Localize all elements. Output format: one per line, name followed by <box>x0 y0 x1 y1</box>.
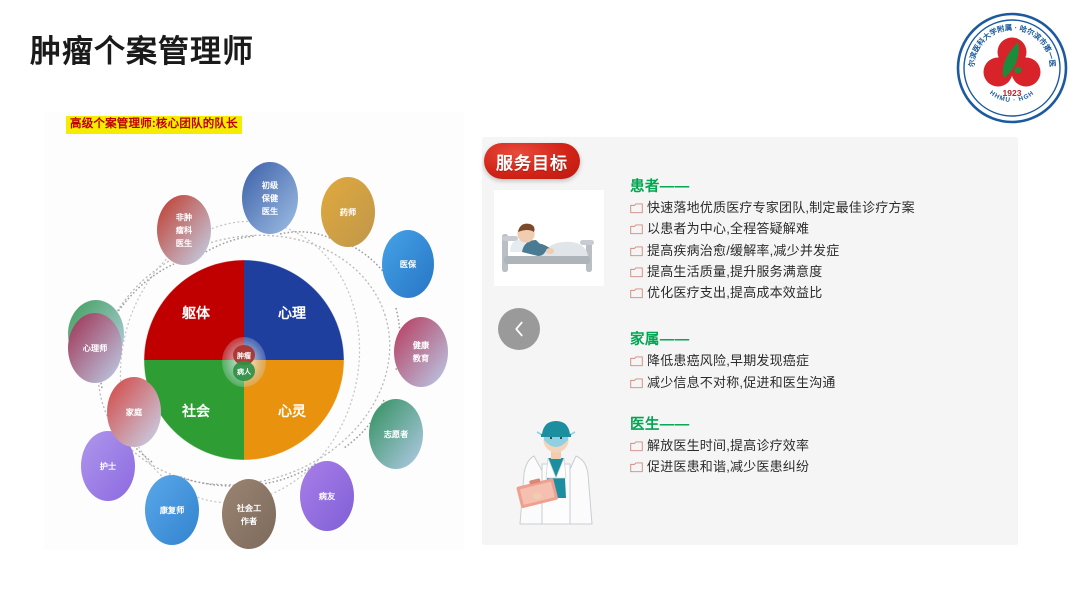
quadrant-label-body: 躯体 <box>181 305 211 321</box>
goal-bullet-row: 提高生活质量,提升服务满意度 <box>630 264 1000 280</box>
goal-bullet-row: 促进医患和谐,减少医患纠纷 <box>630 459 1000 475</box>
node-label-line: 作者 <box>241 516 257 526</box>
node-label-line: 医生 <box>176 238 192 248</box>
goal-bullet-row: 提高疾病治愈/缓解率,减少并发症 <box>630 243 1000 259</box>
node-label-line: 瘤科 <box>176 225 193 235</box>
node-label-line: 心理师 <box>83 343 108 353</box>
node-label-line: 健康 <box>413 340 430 350</box>
goal-bullet-text: 提高疾病治愈/缓解率,减少并发症 <box>647 243 839 259</box>
folder-icon <box>630 462 643 473</box>
goal-section-doctor: 医生—— 解放医生时间,提高诊疗效率 促进医患和谐,减少医患纠纷 <box>630 413 1000 476</box>
diagram-node-healtheducation: 健康 教育 <box>394 317 448 387</box>
leaf-dot-icon <box>1015 67 1022 74</box>
folder-icon <box>630 378 643 389</box>
goal-bullet-text: 提高生活质量,提升服务满意度 <box>647 264 822 280</box>
quadrant-label-spirit: 心灵 <box>278 403 307 419</box>
goal-bullet-text: 促进医患和谐,减少医患纠纷 <box>647 459 809 475</box>
diagram-node-insurance: 医保 <box>382 230 434 298</box>
goal-section-patient: 患者—— 快速落地优质医疗专家团队,制定最佳诊疗方案 以患者为中心,全程答疑解难… <box>630 175 1000 301</box>
node-label-line: 医生 <box>262 206 278 216</box>
core-label-line2: 病人 <box>237 367 252 376</box>
goal-bullet-text: 解放医生时间,提高诊疗效率 <box>647 438 809 454</box>
diagram-node-socialworker: 社会工 作者 <box>222 479 276 549</box>
hospital-logo: 哈尔滨医科大学附属 · 哈尔滨市第一医院 HHMU · HGH 1923 <box>956 12 1068 124</box>
goal-bullet-text: 以患者为中心,全程答疑解难 <box>647 221 809 237</box>
node-label-line: 社会工 <box>236 503 262 513</box>
node-label-line: 保健 <box>261 193 279 203</box>
folder-icon <box>630 356 643 367</box>
folder-icon <box>630 267 643 278</box>
goal-bullet-row: 以患者为中心,全程答疑解难 <box>630 221 1000 237</box>
service-goal-sections: 患者—— 快速落地优质医疗专家团队,制定最佳诊疗方案 以患者为中心,全程答疑解难… <box>630 175 1000 475</box>
diagram-node-volunteer: 志愿者 <box>369 399 423 469</box>
goal-bullet-row: 减少信息不对称,促进和医生沟通 <box>630 375 1000 391</box>
goal-bullet-text: 减少信息不对称,促进和医生沟通 <box>647 375 836 391</box>
diagram-node-family: 家庭 <box>107 377 161 447</box>
patient-in-bed-illustration <box>494 190 604 286</box>
diagram-node-psychologist: 心理师 <box>68 313 122 383</box>
goal-bullet-text: 降低患癌风险,早期发现癌症 <box>647 353 809 369</box>
folder-icon <box>630 203 643 214</box>
node-label-line: 康复师 <box>160 505 185 515</box>
node-label-line: 非肿 <box>176 212 192 222</box>
node-label-line: 护士 <box>100 461 116 471</box>
node-label-line: 家庭 <box>126 407 143 417</box>
logo-year: 1923 <box>1003 88 1022 98</box>
hospital-emblem-icon: 哈尔滨医科大学附属 · 哈尔滨市第一医院 HHMU · HGH 1923 <box>956 12 1068 124</box>
goal-bullet-text: 快速落地优质医疗专家团队,制定最佳诊疗方案 <box>647 200 915 216</box>
diagram-node-primarycare: 初级 保健 医生 <box>242 162 298 234</box>
goal-bullet-row: 优化医疗支出,提高成本效益比 <box>630 285 1000 301</box>
goal-bullet-row: 降低患癌风险,早期发现癌症 <box>630 353 1000 369</box>
care-team-diagram: 高级个案管理师:核心团队的队长 <box>44 112 464 550</box>
node-label-line: 教育 <box>412 353 429 363</box>
service-goal-badge: 服务目标 <box>484 143 580 179</box>
node-label-line: 初级 <box>262 180 279 190</box>
folder-icon <box>630 441 643 452</box>
previous-slide-button[interactable] <box>498 308 540 350</box>
goal-bullet-row: 快速落地优质医疗专家团队,制定最佳诊疗方案 <box>630 200 1000 216</box>
goal-section-heading: 患者—— <box>630 175 1000 196</box>
doctor-with-clipboard-illustration <box>504 412 610 530</box>
node-label-line: 志愿者 <box>384 429 409 439</box>
diagram-node-pharmacist: 药师 <box>321 177 375 247</box>
goal-section-heading: 医生—— <box>630 413 1000 434</box>
goal-bullet-text: 优化医疗支出,提高成本效益比 <box>647 285 822 301</box>
diagram-canvas: 躯体 心理 社会 心灵 肿瘤 病人 <box>44 112 464 550</box>
goal-section-heading: 家属—— <box>630 328 1000 349</box>
diagram-node-peerpatient: 病友 <box>300 461 354 531</box>
diagram-node-nononcologist: 非肿 瘤科 医生 <box>157 195 211 265</box>
chevron-left-icon <box>508 318 530 340</box>
quadrant-label-psych: 心理 <box>278 305 306 321</box>
page-title: 肿瘤个案管理师 <box>30 26 254 71</box>
diagram-node-rehabtherapist: 康复师 <box>145 475 199 545</box>
core-patient-node: 肿瘤 病人 <box>222 337 266 387</box>
service-goal-badge-label: 服务目标 <box>496 149 568 174</box>
quadrant-label-social: 社会 <box>181 403 211 419</box>
node-label-line: 医保 <box>400 259 417 269</box>
folder-icon <box>630 246 643 257</box>
goal-section-family: 家属—— 降低患癌风险,早期发现癌症 减少信息不对称,促进和医生沟通 <box>630 328 1000 391</box>
goal-bullet-row: 解放医生时间,提高诊疗效率 <box>630 438 1000 454</box>
core-label-line1: 肿瘤 <box>236 351 251 360</box>
folder-icon <box>630 224 643 235</box>
node-label-line: 药师 <box>340 207 356 217</box>
node-label-line: 病友 <box>319 491 336 501</box>
illustration-column <box>494 190 618 538</box>
folder-icon <box>630 288 643 299</box>
